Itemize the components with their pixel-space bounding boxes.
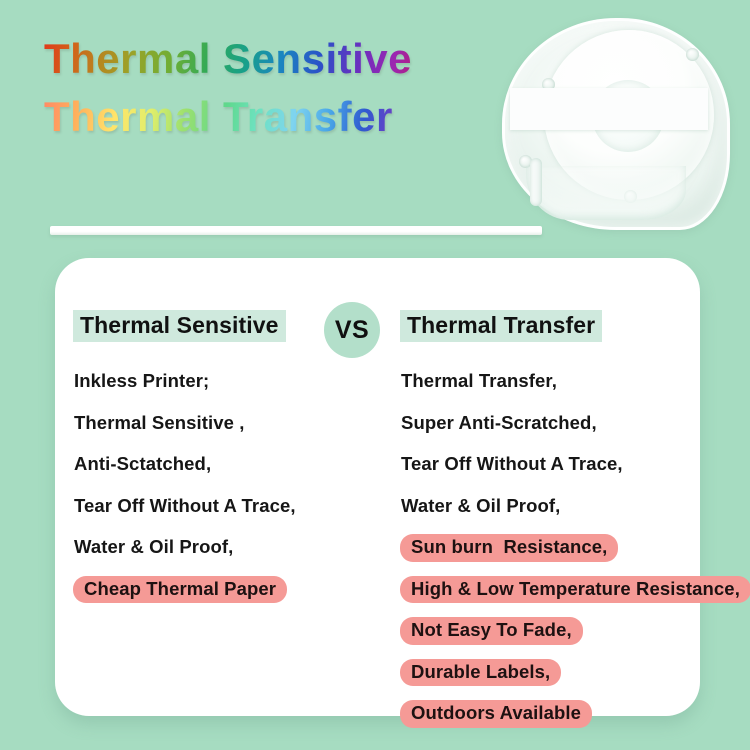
feature-item: Inkless Printer;	[73, 368, 210, 396]
feature-row: Outdoors Available	[400, 700, 695, 742]
feature-row: Cheap Thermal Paper	[73, 576, 373, 618]
feature-row: Super Anti-Scratched,	[400, 410, 695, 452]
blank-label-strip	[510, 88, 708, 130]
cassette-pin-icon	[686, 48, 699, 61]
feature-row: Thermal Transfer,	[400, 368, 695, 410]
feature-item-highlighted: Not Easy To Fade,	[400, 617, 583, 645]
feature-row: Water & Oil Proof,	[73, 534, 373, 576]
feature-item: Tear Off Without A Trace,	[73, 493, 297, 521]
title-line-thermal-transfer: Thermal Transfer	[44, 96, 474, 138]
feature-item: Water & Oil Proof,	[73, 534, 234, 562]
title-block: Thermal Sensitive Thermal Transfer	[44, 38, 474, 138]
feature-row: Water & Oil Proof,	[400, 493, 695, 535]
title-line-thermal-sensitive: Thermal Sensitive	[44, 38, 474, 80]
feature-list-thermal-transfer: Thermal Transfer,Super Anti-Scratched,Te…	[400, 368, 695, 742]
column-heading-thermal-transfer: Thermal Transfer	[400, 310, 602, 342]
vs-badge-label: VS	[335, 316, 369, 345]
feature-list-thermal-sensitive: Inkless Printer;Thermal Sensitive ,Anti-…	[73, 368, 373, 617]
vs-badge: VS	[324, 302, 380, 358]
feature-item-highlighted: Cheap Thermal Paper	[73, 576, 287, 604]
feature-item-highlighted: Outdoors Available	[400, 700, 592, 728]
feature-item-highlighted: High & Low Temperature Resistance,	[400, 576, 750, 604]
feature-item: Tear Off Without A Trace,	[400, 451, 624, 479]
feature-row: Anti-Sctatched,	[73, 451, 373, 493]
tape-lead-strip	[50, 226, 542, 235]
product-image-label-tape-cassette	[488, 8, 744, 240]
feature-row: Thermal Sensitive ,	[73, 410, 373, 452]
feature-row: Not Easy To Fade,	[400, 617, 695, 659]
feature-item: Thermal Transfer,	[400, 368, 558, 396]
feature-row: Inkless Printer;	[73, 368, 373, 410]
cassette-notch	[530, 158, 542, 206]
comparison-card: Thermal Sensitive VS Thermal Transfer In…	[55, 258, 700, 716]
feature-item: Thermal Sensitive ,	[73, 410, 246, 438]
feature-row: High & Low Temperature Resistance,	[400, 576, 695, 618]
feature-item: Super Anti-Scratched,	[400, 410, 598, 438]
feature-row: Tear Off Without A Trace,	[400, 451, 695, 493]
feature-item-highlighted: Durable Labels,	[400, 659, 561, 687]
feature-item: Anti-Sctatched,	[73, 451, 212, 479]
comparison-header-row: Thermal Sensitive VS Thermal Transfer	[55, 310, 700, 350]
feature-row: Durable Labels,	[400, 659, 695, 701]
feature-row: Tear Off Without A Trace,	[73, 493, 373, 535]
feature-row: Sun burn Resistance,	[400, 534, 695, 576]
cassette-base	[526, 166, 686, 220]
column-heading-thermal-sensitive: Thermal Sensitive	[73, 310, 286, 342]
feature-item: Water & Oil Proof,	[400, 493, 561, 521]
feature-item-highlighted: Sun burn Resistance,	[400, 534, 618, 562]
